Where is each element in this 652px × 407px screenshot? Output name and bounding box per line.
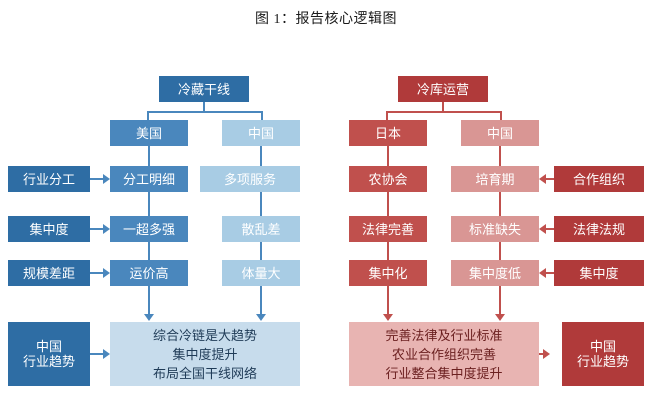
- right-row-0-arrow: [539, 174, 546, 184]
- right-jp-conclusion-line: [387, 286, 389, 314]
- left-row-0-topic: 行业分工: [8, 166, 90, 192]
- right-row-1-left-box: 法律完善: [349, 216, 427, 242]
- right-row-0-middle-box: 培育期: [451, 166, 539, 192]
- left-row-0-arrow: [103, 174, 110, 184]
- right-row-1-middle-box: 标准缺失: [451, 216, 539, 242]
- right-conclusion-text: 完善法律及行业标准 农业合作组织完善 行业整合集中度提升: [349, 322, 539, 386]
- left-branch-hbar: [147, 111, 263, 113]
- right-conclusion-arrow-line: [539, 353, 545, 355]
- left-cn-conclusion-line: [260, 286, 262, 314]
- right-cn-conclusion-arrow: [495, 314, 505, 321]
- right-jp-conclusion-arrow: [383, 314, 393, 321]
- left-row-2-arrow: [103, 268, 110, 278]
- left-us-conclusion-line: [148, 286, 150, 314]
- left-row-2-arrow-line: [90, 272, 103, 274]
- left-row-2-topic: 规模差距: [8, 260, 90, 286]
- left-cn-spine: [260, 146, 262, 266]
- right-cn-conclusion-line: [499, 286, 501, 314]
- right-row-0-right-box: 合作组织: [554, 166, 644, 192]
- right-row-1-right-box: 法律法规: [554, 216, 644, 242]
- right-root-box: 冷库运营: [398, 76, 488, 102]
- left-root-box: 冷藏干线: [159, 76, 249, 102]
- right-branch-hbar: [386, 111, 502, 113]
- left-conclusion-arrow: [103, 349, 110, 359]
- left-conclusion-text: 综合冷链是大趋势 集中度提升 布局全国干线网络: [110, 322, 300, 386]
- left-row-0-right-box: 多项服务: [200, 166, 300, 192]
- left-conclusion-label: 中国 行业趋势: [8, 322, 90, 386]
- left-row-1-left-box: 一超多强: [110, 216, 188, 242]
- right-conclusion-label: 中国 行业趋势: [562, 322, 644, 386]
- left-branch-cn-box: 中国: [222, 120, 300, 146]
- right-row-2-right-box: 集中度: [554, 260, 644, 286]
- figure-title: 图 1：报告核心逻辑图: [0, 8, 652, 28]
- left-us-spine: [148, 146, 150, 266]
- right-row-2-middle-box: 集中度低: [451, 260, 539, 286]
- left-cn-conclusion-arrow: [256, 314, 266, 321]
- left-row-1-arrow: [103, 224, 110, 234]
- left-row-2-right-box: 体量大: [222, 260, 300, 286]
- left-row-0-left-box: 分工明细: [110, 166, 188, 192]
- right-row-1-arrow: [539, 224, 546, 234]
- right-jp-spine: [387, 146, 389, 266]
- left-row-1-topic: 集中度: [8, 216, 90, 242]
- diagram-canvas: 图 1：报告核心逻辑图 冷藏干线 美国 中国 行业分工 分工明细 多项服务 集中…: [0, 0, 652, 407]
- left-row-1-right-box: 散乱差: [222, 216, 300, 242]
- right-row-0-left-box: 农协会: [349, 166, 427, 192]
- left-row-0-arrow-line: [90, 178, 103, 180]
- right-row-2-left-box: 集中化: [349, 260, 427, 286]
- left-us-conclusion-arrow: [144, 314, 154, 321]
- right-branch-jp-box: 日本: [349, 120, 427, 146]
- left-row-1-arrow-line: [90, 228, 103, 230]
- left-row-2-left-box: 运价高: [110, 260, 188, 286]
- right-cn-spine: [499, 146, 501, 266]
- right-branch-cn-box: 中国: [461, 120, 539, 146]
- right-row-2-arrow: [539, 268, 546, 278]
- left-conclusion-arrow-line: [90, 353, 103, 355]
- left-branch-us-box: 美国: [110, 120, 188, 146]
